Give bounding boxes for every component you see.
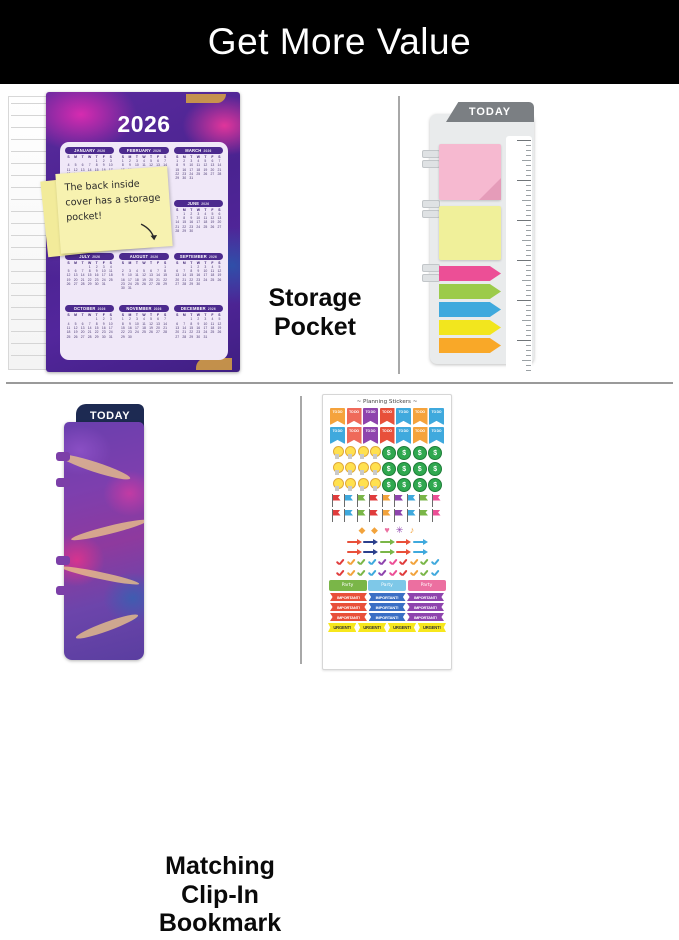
todo-banner-sticker: TO DO bbox=[347, 408, 362, 425]
ruler-tick bbox=[526, 310, 531, 311]
ruler-tick bbox=[517, 300, 531, 301]
ruler-tick bbox=[522, 160, 531, 161]
ruler-tick bbox=[522, 240, 531, 241]
ruler-tick bbox=[526, 225, 531, 226]
ruler-tick bbox=[522, 360, 531, 361]
calendar-days: 1234567891011121314151617181920212223242… bbox=[174, 159, 223, 181]
ruler-tick bbox=[526, 365, 531, 366]
arrow-sticker bbox=[380, 538, 395, 546]
ruler-tick bbox=[517, 180, 531, 181]
ruler-tick bbox=[522, 200, 531, 201]
flag-sticker bbox=[332, 509, 343, 522]
calendar-days: 1234567891011121314151617181920212223242… bbox=[65, 317, 114, 339]
important-sticker: IMPORTANT! bbox=[330, 603, 367, 611]
sticker-row: $$$$ bbox=[328, 462, 446, 476]
urgent-sticker: URGENT! bbox=[358, 623, 386, 632]
calendar-month-name: MARCH 2026 bbox=[174, 147, 223, 154]
flag-sticker bbox=[357, 494, 368, 507]
bookmark-caption: Matching Clip-In Bookmark bbox=[140, 852, 300, 938]
sticker-row: ◆◆♥✳♪ bbox=[328, 524, 446, 536]
sticky-flag-pink bbox=[439, 266, 501, 281]
calendar-month-name: SEPTEMBER 2026 bbox=[174, 253, 223, 260]
storage-caption-line2: Pocket bbox=[236, 313, 394, 342]
checkmark-sticker bbox=[377, 558, 386, 567]
calendar-month-name: OCTOBER 2026 bbox=[65, 305, 114, 312]
checkmark-sticker bbox=[346, 558, 355, 567]
ruler-tick bbox=[526, 210, 531, 211]
planner-year: 2026 bbox=[117, 111, 170, 138]
flag-sticker bbox=[394, 509, 405, 522]
money-coin-sticker: $ bbox=[382, 462, 396, 476]
ruler-tick bbox=[526, 350, 531, 351]
divider-vertical-top bbox=[398, 96, 400, 374]
watermelon-sticker: ◆ bbox=[369, 524, 380, 536]
arrow-sticker bbox=[347, 548, 362, 556]
bookmark-product-image: TODAY bbox=[64, 404, 144, 660]
sticky-flag-orange bbox=[439, 338, 501, 353]
important-sticker: IMPORTANT! bbox=[407, 613, 444, 621]
calendar-month: MARCH 2026SMTWTFS12345678910111213141516… bbox=[173, 147, 224, 197]
music-note-sticker: ♪ bbox=[407, 524, 418, 536]
lightbulb-sticker bbox=[357, 446, 368, 460]
storage-caption-line1: Storage bbox=[236, 284, 394, 313]
bookmark-clip bbox=[56, 478, 70, 487]
todo-banner-sticker: TO DO bbox=[429, 408, 444, 425]
infographic-page: Get More Value 2026 JANUARY 2026SMTWTFS … bbox=[0, 0, 679, 678]
lightbulb-sticker bbox=[357, 462, 368, 476]
sticker-row: $$$$ bbox=[328, 446, 446, 460]
planner-product-image: 2026 JANUARY 2026SMTWTFS 123456789101112… bbox=[8, 92, 240, 374]
calendar-month-name: NOVEMBER 2026 bbox=[119, 305, 168, 312]
sticky-note-ruler-image: TODAY bbox=[430, 102, 534, 364]
flag-sticker bbox=[419, 509, 430, 522]
calendar-month-name: JUNE 2026 bbox=[174, 200, 223, 207]
checkmark-sticker bbox=[356, 569, 365, 578]
money-coin-sticker: $ bbox=[428, 462, 442, 476]
sticker-row: IMPORTANT!IMPORTANT!IMPORTANT! bbox=[328, 593, 446, 601]
todo-banner-sticker: TO DO bbox=[429, 427, 444, 444]
header-banner: Get More Value bbox=[0, 0, 679, 84]
calendar-month: JULY 2026SMTWTFS 12345678910111213141516… bbox=[64, 253, 115, 303]
flag-sticker bbox=[394, 494, 405, 507]
bookmark-caption-line2: Clip-In bbox=[140, 881, 300, 910]
sparkle-sticker: ✳ bbox=[394, 524, 405, 536]
checkmark-sticker bbox=[388, 558, 397, 567]
todo-banner-sticker: TO DO bbox=[380, 427, 395, 444]
lightbulb-sticker bbox=[369, 462, 380, 476]
money-coin-sticker: $ bbox=[397, 478, 411, 492]
todo-banner-sticker: TO DO bbox=[330, 427, 345, 444]
arrow-sticker bbox=[396, 548, 411, 556]
heart-sticker: ♥ bbox=[382, 524, 393, 536]
checkmark-sticker bbox=[430, 569, 439, 578]
flag-sticker bbox=[407, 509, 418, 522]
ruler-clip bbox=[422, 150, 440, 158]
urgent-sticker: URGENT! bbox=[388, 623, 416, 632]
lightbulb-sticker bbox=[357, 478, 368, 492]
ruler-tick bbox=[526, 235, 531, 236]
checkmark-sticker bbox=[367, 569, 376, 578]
todo-banner-sticker: TO DO bbox=[363, 408, 378, 425]
calendar-days: 1234567891011121314151617181920212223242… bbox=[174, 265, 223, 287]
ruler-tick bbox=[526, 145, 531, 146]
sticky-flag-green bbox=[439, 284, 501, 299]
arrow-sticker bbox=[363, 548, 378, 556]
todo-banner-sticker: TO DO bbox=[396, 427, 411, 444]
ruler-tick bbox=[526, 275, 531, 276]
checkmark-sticker bbox=[398, 569, 407, 578]
todo-banner-sticker: TO DO bbox=[413, 408, 428, 425]
money-coin-sticker: $ bbox=[382, 478, 396, 492]
ruler-tick bbox=[526, 190, 531, 191]
sticker-sheet-image: ~ Planning Stickers ~ TO DOTO DOTO DOTO … bbox=[322, 394, 452, 670]
calendar-days: 1234567891011121314151617181920212223242… bbox=[65, 265, 114, 287]
ruler-body bbox=[430, 114, 534, 364]
money-coin-sticker: $ bbox=[413, 446, 427, 460]
party-sticker: Party bbox=[408, 580, 446, 591]
sticker-row: PartyPartyParty bbox=[328, 580, 446, 591]
ruler-tick bbox=[522, 280, 531, 281]
ruler-tick bbox=[526, 165, 531, 166]
money-coin-sticker: $ bbox=[428, 478, 442, 492]
todo-banner-sticker: TO DO bbox=[380, 408, 395, 425]
ruler-tick bbox=[526, 255, 531, 256]
flag-sticker bbox=[344, 509, 355, 522]
calendar-days: 1234567891011121314151617181920212223242… bbox=[119, 265, 168, 291]
calendar-month: DECEMBER 2026SMTWTFS 1234567891011121314… bbox=[173, 305, 224, 355]
sticker-row: $$$$ bbox=[328, 478, 446, 492]
ruler-tick bbox=[526, 330, 531, 331]
bookmark-clip bbox=[56, 586, 70, 595]
sticky-pad-pink bbox=[439, 144, 501, 200]
sticker-row bbox=[328, 494, 446, 507]
ruler-tick bbox=[526, 215, 531, 216]
lightbulb-sticker bbox=[369, 446, 380, 460]
money-coin-sticker: $ bbox=[397, 462, 411, 476]
divider-vertical-bottom bbox=[300, 396, 302, 664]
ruler-tick bbox=[526, 195, 531, 196]
money-coin-sticker: $ bbox=[382, 446, 396, 460]
ruler-clip bbox=[422, 210, 440, 218]
sticker-sheet-title: ~ Planning Stickers ~ bbox=[328, 399, 446, 405]
sticky-note-callout: The back inside cover has a storage pock… bbox=[44, 170, 164, 256]
panel-sticky-notes: TODAY 175 Sticky Notes + Ruler bbox=[402, 88, 679, 380]
checkmark-sticker bbox=[335, 558, 344, 567]
calendar-month: NOVEMBER 2026SMTWTFS12345678910111213141… bbox=[118, 305, 169, 355]
checkmark-sticker bbox=[419, 558, 428, 567]
ruler-tick bbox=[526, 155, 531, 156]
checkmark-sticker bbox=[409, 569, 418, 578]
arrow-sticker bbox=[396, 538, 411, 546]
calendar-days: 1234567891011121314151617181920212223242… bbox=[174, 212, 223, 234]
bookmark-body bbox=[64, 422, 144, 660]
checkmark-sticker bbox=[430, 558, 439, 567]
sticky-pad-yellow bbox=[439, 206, 501, 260]
lightbulb-sticker bbox=[344, 446, 355, 460]
ruler-tick bbox=[526, 175, 531, 176]
arrow-sticker bbox=[413, 548, 428, 556]
ruler-tick bbox=[526, 370, 531, 371]
important-sticker: IMPORTANT! bbox=[407, 593, 444, 601]
ruler-clip bbox=[422, 274, 440, 282]
ruler-tick bbox=[526, 345, 531, 346]
bookmark-caption-line3: Bookmark bbox=[140, 909, 300, 938]
ruler-tick bbox=[526, 355, 531, 356]
ruler-tick bbox=[526, 205, 531, 206]
ruler-tick bbox=[526, 150, 531, 151]
panel-bookmark: TODAY Matching Clip-In Bookmark bbox=[0, 386, 298, 678]
urgent-sticker: URGENT! bbox=[328, 623, 356, 632]
todo-banner-sticker: TO DO bbox=[347, 427, 362, 444]
important-sticker: IMPORTANT! bbox=[369, 603, 406, 611]
bookmark-clip bbox=[56, 556, 70, 565]
ruler-tick bbox=[526, 325, 531, 326]
lightbulb-sticker bbox=[369, 478, 380, 492]
ruler-tick bbox=[526, 185, 531, 186]
ruler-tick bbox=[526, 230, 531, 231]
calendar-month: SEPTEMBER 2026SMTWTFS 123456789101112131… bbox=[173, 253, 224, 303]
calendar-month-name: FEBRUARY 2026 bbox=[119, 147, 168, 154]
page-title: Get More Value bbox=[208, 21, 471, 63]
calendar-month-name: DECEMBER 2026 bbox=[174, 305, 223, 312]
arrow-sticker bbox=[380, 548, 395, 556]
ruler-tick bbox=[526, 250, 531, 251]
sticky-flag-yellow bbox=[439, 320, 501, 335]
ruler-scale bbox=[506, 136, 532, 372]
ruler-tick bbox=[526, 295, 531, 296]
bookmark-clip bbox=[56, 452, 70, 461]
money-coin-sticker: $ bbox=[413, 478, 427, 492]
ruler-tick bbox=[526, 290, 531, 291]
planner-year-band: 2026 bbox=[56, 108, 232, 140]
sticker-row bbox=[328, 569, 446, 578]
flag-sticker bbox=[407, 494, 418, 507]
ruler-clip bbox=[422, 160, 440, 168]
lightbulb-sticker bbox=[332, 462, 343, 476]
flag-sticker bbox=[357, 509, 368, 522]
bookmark-caption-line1: Matching bbox=[140, 852, 300, 881]
sticker-row bbox=[328, 558, 446, 567]
calendar-days: 1234567891011121314151617181920212223242… bbox=[119, 317, 168, 339]
todo-banner-sticker: TO DO bbox=[413, 427, 428, 444]
flag-sticker bbox=[382, 509, 393, 522]
ruler-tick bbox=[517, 140, 531, 141]
panel-storage-pocket: 2026 JANUARY 2026SMTWTFS 123456789101112… bbox=[0, 88, 396, 380]
calendar-month: AUGUST 2026SMTWTFS 123456789101112131415… bbox=[118, 253, 169, 303]
party-sticker: Party bbox=[329, 580, 367, 591]
flag-sticker bbox=[369, 509, 380, 522]
checkmark-sticker bbox=[335, 569, 344, 578]
divider-horizontal bbox=[6, 382, 673, 384]
sticky-flag-blue bbox=[439, 302, 501, 317]
panel-stickers: ~ Planning Stickers ~ TO DOTO DOTO DOTO … bbox=[304, 386, 679, 678]
urgent-sticker: URGENT! bbox=[418, 623, 446, 632]
important-sticker: IMPORTANT! bbox=[330, 613, 367, 621]
lightbulb-sticker bbox=[344, 478, 355, 492]
flag-sticker bbox=[432, 509, 443, 522]
todo-banner-sticker: TO DO bbox=[363, 427, 378, 444]
arrow-sticker bbox=[413, 538, 428, 546]
ruler-clip bbox=[422, 264, 440, 272]
important-sticker: IMPORTANT! bbox=[407, 603, 444, 611]
sticker-row: TO DOTO DOTO DOTO DOTO DOTO DOTO DO bbox=[328, 408, 446, 425]
ruler-clip bbox=[422, 200, 440, 208]
ruler-tick bbox=[526, 285, 531, 286]
checkmark-sticker bbox=[409, 558, 418, 567]
checkmark-sticker bbox=[419, 569, 428, 578]
ruler-tick bbox=[517, 220, 531, 221]
lightbulb-sticker bbox=[332, 478, 343, 492]
money-coin-sticker: $ bbox=[428, 446, 442, 460]
important-sticker: IMPORTANT! bbox=[369, 613, 406, 621]
ruler-tick bbox=[526, 265, 531, 266]
ruler-tick bbox=[526, 170, 531, 171]
ruler-tick bbox=[526, 315, 531, 316]
checkmark-sticker bbox=[356, 558, 365, 567]
lightbulb-sticker bbox=[344, 462, 355, 476]
ruler-tick bbox=[526, 270, 531, 271]
arrow-sticker bbox=[347, 538, 362, 546]
lightbulb-sticker bbox=[332, 446, 343, 460]
important-sticker: IMPORTANT! bbox=[330, 593, 367, 601]
sticky-note-front: The back inside cover has a storage pock… bbox=[55, 166, 172, 254]
sticker-row: URGENT!URGENT!URGENT!URGENT! bbox=[328, 623, 446, 632]
flag-sticker bbox=[344, 494, 355, 507]
checkmark-sticker bbox=[388, 569, 397, 578]
ruler-tick bbox=[517, 340, 531, 341]
ruler-tick bbox=[526, 305, 531, 306]
flag-sticker bbox=[369, 494, 380, 507]
ruler-tick bbox=[522, 320, 531, 321]
pineapple-sticker: ◆ bbox=[357, 524, 368, 536]
flag-sticker bbox=[432, 494, 443, 507]
money-coin-sticker: $ bbox=[397, 446, 411, 460]
flag-sticker bbox=[332, 494, 343, 507]
storage-pocket-caption: Storage Pocket bbox=[236, 284, 394, 341]
sticker-row bbox=[328, 509, 446, 522]
calendar-month-name: JANUARY 2026 bbox=[65, 147, 114, 154]
curved-arrow-icon bbox=[137, 221, 160, 244]
calendar-days: 1234567891011121314151617181920212223242… bbox=[174, 317, 223, 339]
calendar-month: OCTOBER 2026SMTWTFS 12345678910111213141… bbox=[64, 305, 115, 355]
todo-banner-sticker: TO DO bbox=[330, 408, 345, 425]
sticker-row: IMPORTANT!IMPORTANT!IMPORTANT! bbox=[328, 613, 446, 621]
checkmark-sticker bbox=[398, 558, 407, 567]
flag-sticker bbox=[382, 494, 393, 507]
checkmark-sticker bbox=[367, 558, 376, 567]
sticker-row: TO DOTO DOTO DOTO DOTO DOTO DOTO DO bbox=[328, 427, 446, 444]
flag-sticker bbox=[419, 494, 430, 507]
calendar-month: JUNE 2026SMTWTFS 12345678910111213141516… bbox=[173, 200, 224, 250]
money-coin-sticker: $ bbox=[413, 462, 427, 476]
party-sticker: Party bbox=[368, 580, 406, 591]
sticker-row bbox=[328, 548, 446, 556]
ruler-tick bbox=[526, 335, 531, 336]
ruler-tick bbox=[517, 260, 531, 261]
important-sticker: IMPORTANT! bbox=[369, 593, 406, 601]
today-tab: TODAY bbox=[446, 102, 534, 122]
sticker-row: IMPORTANT!IMPORTANT!IMPORTANT! bbox=[328, 603, 446, 611]
sticker-row bbox=[328, 538, 446, 546]
arrow-sticker bbox=[363, 538, 378, 546]
checkmark-sticker bbox=[346, 569, 355, 578]
todo-banner-sticker: TO DO bbox=[396, 408, 411, 425]
sticky-note-text: The back inside cover has a storage pock… bbox=[64, 176, 164, 226]
ruler-tick bbox=[526, 245, 531, 246]
checkmark-sticker bbox=[377, 569, 386, 578]
